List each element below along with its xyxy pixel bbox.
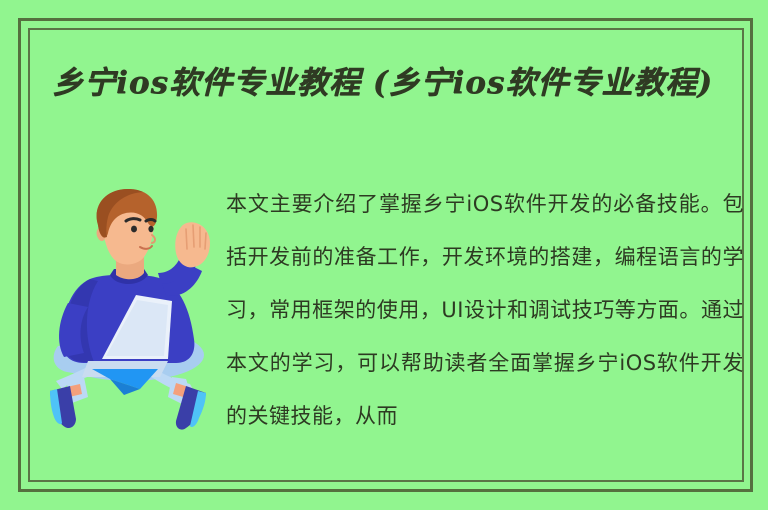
page-title: 乡宁ios软件专业教程 (乡宁ios软件专业教程) <box>52 62 742 105</box>
waving-hand <box>175 222 210 267</box>
article-body: 本文主要介绍了掌握乡宁iOS软件开发的必备技能。包括开发前的准备工作，开发环境的… <box>226 178 744 443</box>
head-group <box>97 189 157 279</box>
right-arm-waving-group <box>158 222 210 296</box>
illustration-man-with-laptop <box>40 183 220 433</box>
poster-page: 乡宁ios软件专业教程 (乡宁ios软件专业教程) <box>0 0 768 510</box>
